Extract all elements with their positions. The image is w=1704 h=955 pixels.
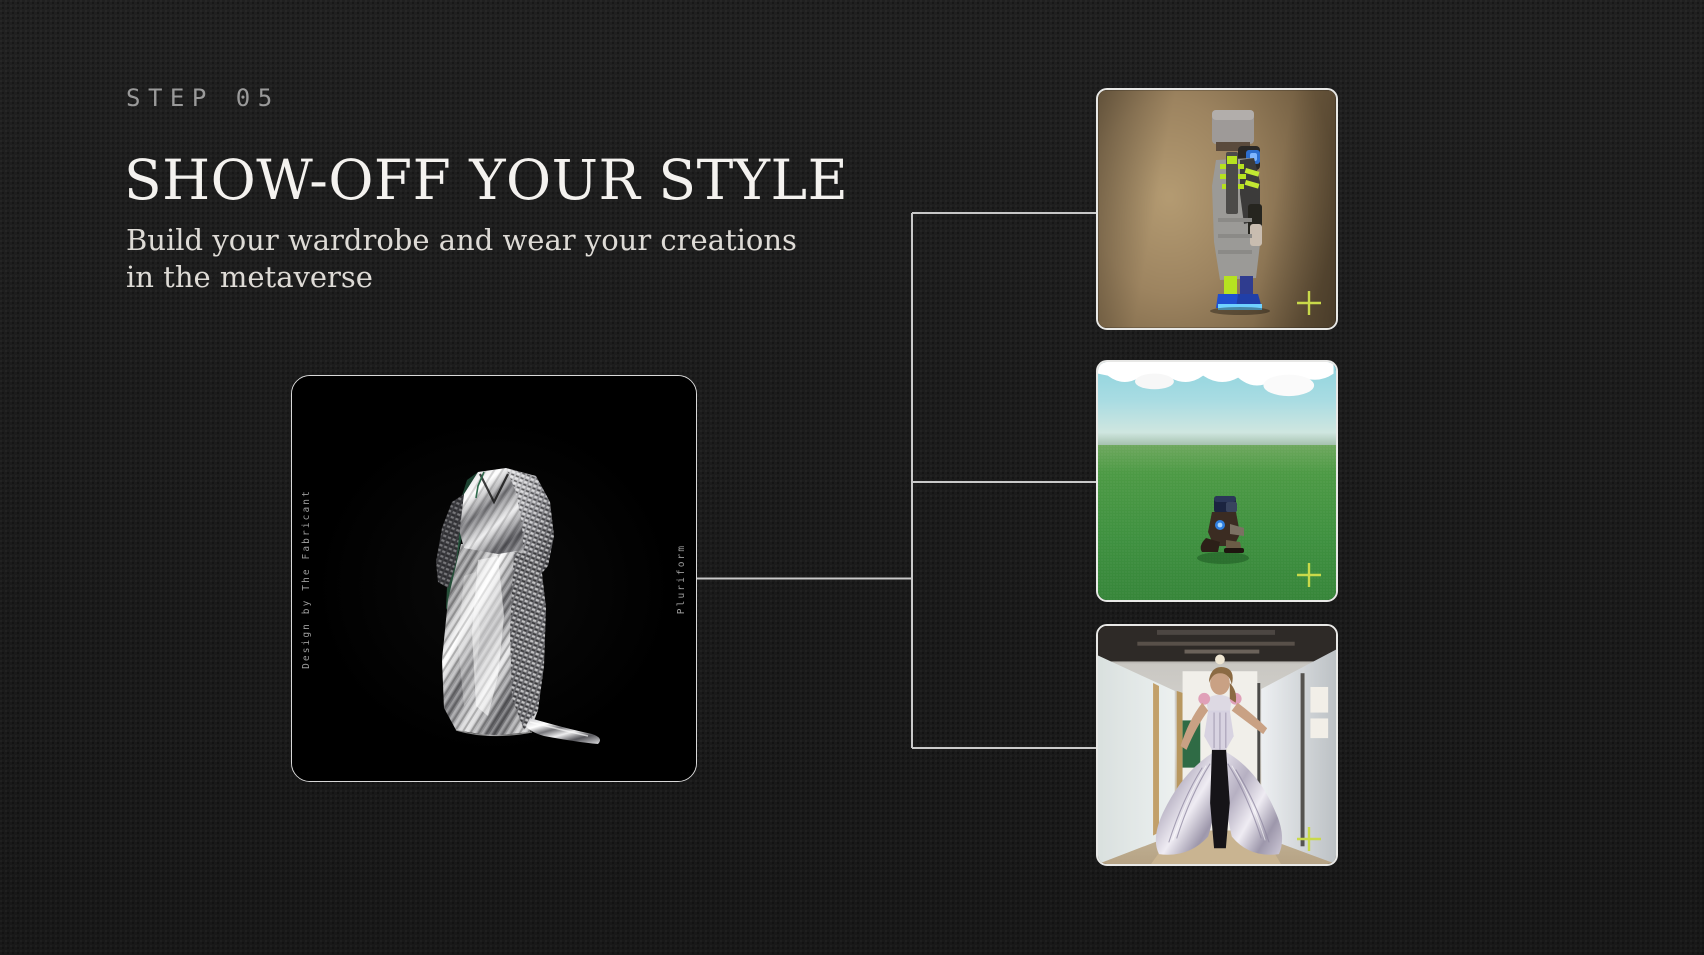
scene-clouds: [1098, 362, 1334, 405]
thumbnail-card-3[interactable]: [1096, 624, 1338, 866]
thumbnail-card-1[interactable]: [1096, 88, 1338, 330]
expand-plus-icon[interactable]: [1294, 560, 1324, 590]
subtitle-line-2: in the metaverse: [126, 259, 846, 296]
kneeling-avatar-figure: [1196, 494, 1254, 564]
page-title: SHOW-OFF YOUR STYLE: [124, 152, 848, 208]
gown-illustration: [292, 376, 697, 782]
thumbnail-card-2[interactable]: [1096, 360, 1338, 602]
subtitle-line-1: Build your wardrobe and wear your creati…: [126, 222, 846, 259]
step-label: STEP 05: [126, 84, 280, 112]
thumbnail-image-3: [1098, 626, 1336, 864]
thumbnail-image-2: [1098, 362, 1336, 600]
connector-lines: [0, 0, 1704, 955]
expand-plus-icon[interactable]: [1294, 824, 1324, 854]
page-subtitle: Build your wardrobe and wear your creati…: [126, 222, 846, 296]
expand-plus-icon[interactable]: [1294, 288, 1324, 318]
blocky-avatar-figure: [1194, 108, 1280, 316]
thumbnail-image-1: [1098, 90, 1336, 328]
product-card[interactable]: Design by The Fabricant Pluriform: [291, 375, 697, 782]
product-credit-left: Design by The Fabricant: [301, 489, 312, 669]
product-card-stage: Design by The Fabricant Pluriform: [292, 376, 696, 781]
product-credit-right: Pluriform: [676, 543, 687, 613]
